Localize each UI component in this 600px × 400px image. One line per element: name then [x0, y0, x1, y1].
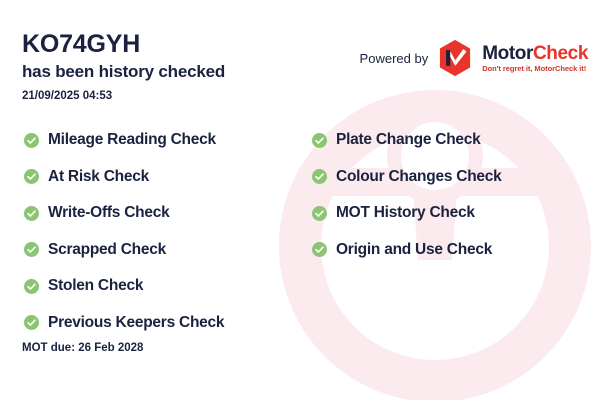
check-label: Colour Changes Check	[336, 168, 502, 186]
list-item: Scrapped Check	[24, 232, 224, 269]
list-item: Colour Changes Check	[312, 159, 502, 196]
checklist-column-left: Mileage Reading Check At Risk Check Writ…	[24, 122, 224, 341]
check-label: Stolen Check	[48, 277, 143, 295]
check-label: Previous Keepers Check	[48, 314, 224, 332]
check-circle-icon	[312, 242, 327, 257]
check-label: Mileage Reading Check	[48, 131, 216, 149]
wordmark-accent: Check	[533, 43, 588, 64]
check-circle-icon	[24, 206, 39, 221]
brand-tagline: Don't regret it, MotorCheck it!	[482, 65, 588, 73]
wordmark-primary: Motor	[482, 43, 533, 64]
check-circle-icon	[312, 169, 327, 184]
motorcheck-hexagon-logo-icon	[438, 39, 472, 77]
check-label: At Risk Check	[48, 168, 149, 186]
check-label: MOT History Check	[336, 204, 475, 222]
list-item: Stolen Check	[24, 268, 224, 305]
check-circle-icon	[24, 279, 39, 294]
list-item: Write-Offs Check	[24, 195, 224, 232]
check-label: Plate Change Check	[336, 131, 481, 149]
list-item: MOT History Check	[312, 195, 502, 232]
check-circle-icon	[24, 133, 39, 148]
check-label: Write-Offs Check	[48, 204, 169, 222]
checklist-column-right: Plate Change Check Colour Changes Check …	[312, 122, 502, 268]
header-subtitle: has been history checked	[22, 61, 225, 83]
check-circle-icon	[24, 169, 39, 184]
header-block: KO74GYH has been history checked 21/09/2…	[22, 30, 225, 102]
vehicle-history-check-card: KO74GYH has been history checked 21/09/2…	[0, 0, 600, 400]
brand-bar: Powered by MotorCheck Don't regret it, M…	[360, 39, 588, 77]
list-item: Origin and Use Check	[312, 232, 502, 269]
check-circle-icon	[312, 206, 327, 221]
list-item: Plate Change Check	[312, 122, 502, 159]
check-label: Origin and Use Check	[336, 241, 492, 259]
powered-by-label: Powered by	[360, 51, 429, 66]
check-label: Scrapped Check	[48, 241, 166, 259]
mot-due-label: MOT due: 26 Feb 2028	[22, 342, 143, 354]
motorcheck-wordmark: MotorCheck Don't regret it, MotorCheck i…	[482, 44, 588, 73]
registration-plate: KO74GYH	[22, 30, 225, 58]
check-circle-icon	[24, 242, 39, 257]
list-item: Previous Keepers Check	[24, 305, 224, 342]
check-circle-icon	[312, 133, 327, 148]
list-item: At Risk Check	[24, 159, 224, 196]
report-timestamp: 21/09/2025 04:53	[22, 90, 225, 102]
check-circle-icon	[24, 315, 39, 330]
list-item: Mileage Reading Check	[24, 122, 224, 159]
